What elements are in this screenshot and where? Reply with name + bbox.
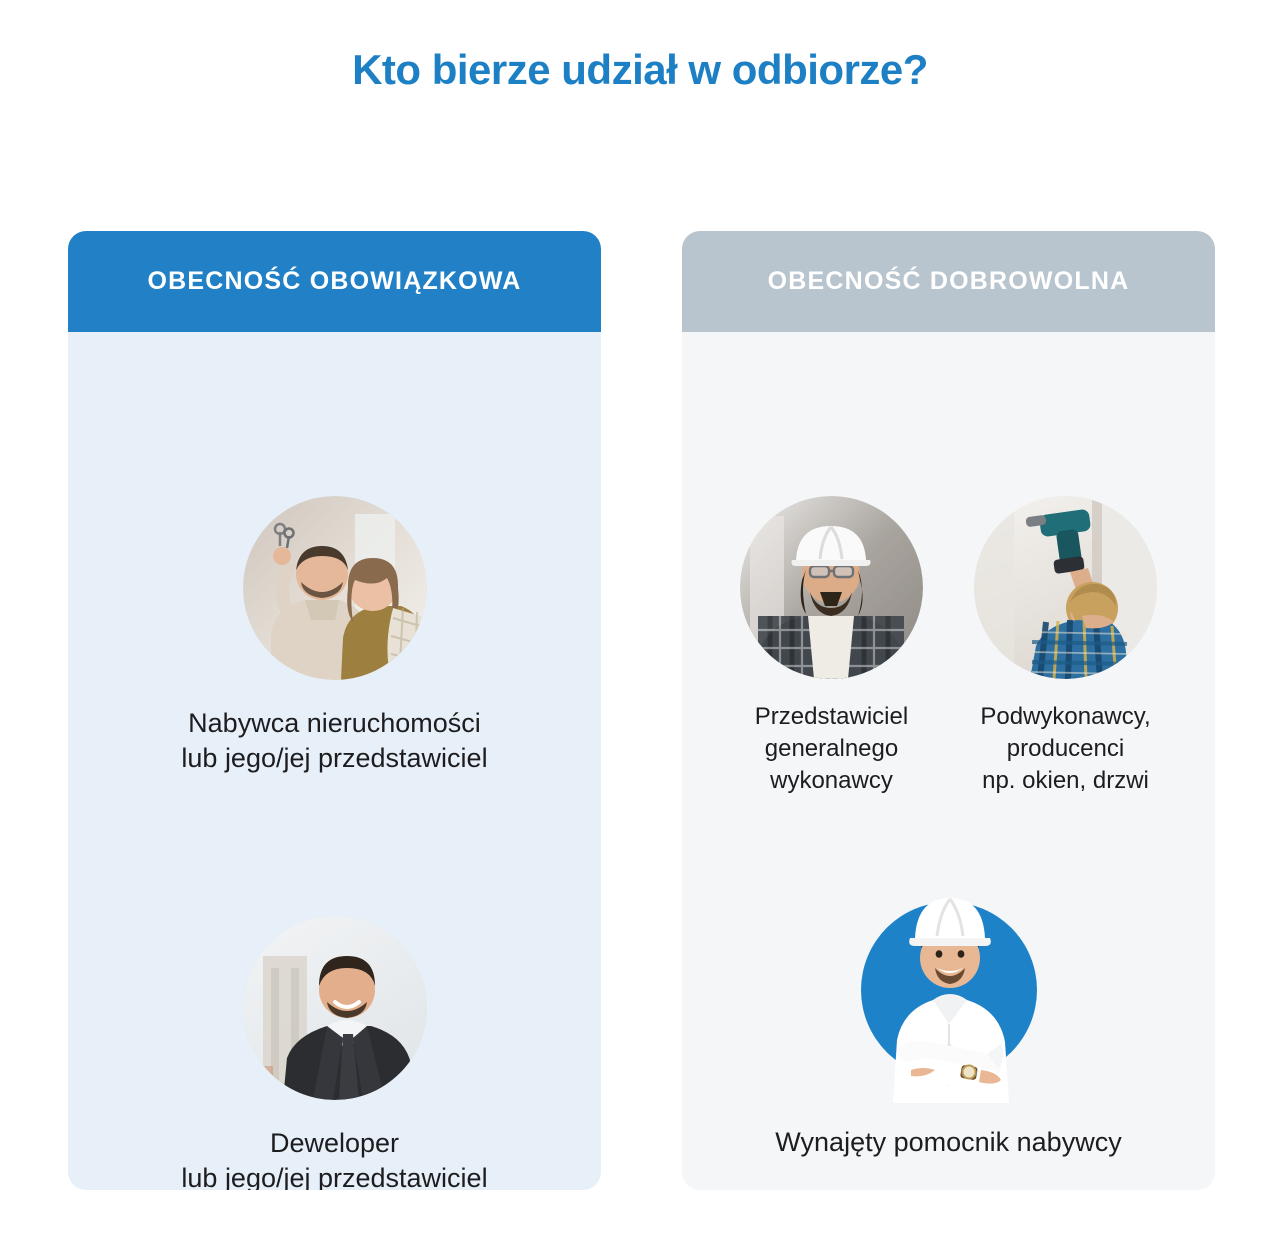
person-developer: Deweloper lub jego/jej przedstawiciel (68, 916, 601, 1190)
person-subcontractors-caption: Podwykonawcy, producenci np. okien, drzw… (980, 701, 1150, 797)
person-general-contractor-rep-caption: Przedstawiciel generalnego wykonawcy (755, 701, 908, 797)
card-voluntary-header: OBECNOŚĆ DOBROWOLNA (682, 231, 1215, 332)
worker-hardhat-glasses-photo (740, 496, 923, 679)
card-mandatory-presence: OBECNOŚĆ OBOWIĄZKOWA (68, 231, 601, 1190)
page-title: Kto bierze udział w odbiorze? (0, 46, 1280, 94)
person-hired-helper-caption: Wynajęty pomocnik nabywcy (775, 1125, 1121, 1160)
man-in-suit-photo (243, 916, 427, 1100)
worker-with-drill-photo (974, 496, 1157, 679)
card-mandatory-header: OBECNOŚĆ OBOWIĄZKOWA (68, 231, 601, 332)
card-voluntary-presence: OBECNOŚĆ DOBROWOLNA (682, 231, 1215, 1190)
engineer-arms-crossed-photo (849, 874, 1049, 1103)
infographic-page: Kto bierze udział w odbiorze? OBECNOŚĆ O… (0, 0, 1280, 1240)
person-general-contractor-rep: Przedstawiciel generalnego wykonawcy (739, 496, 925, 797)
person-hired-helper: Wynajęty pomocnik nabywcy (682, 874, 1215, 1160)
person-buyer: Nabywca nieruchomości lub jego/jej przed… (68, 496, 601, 776)
person-subcontractors: Podwykonawcy, producenci np. okien, drzw… (973, 496, 1159, 797)
person-buyer-caption: Nabywca nieruchomości lub jego/jej przed… (181, 706, 487, 776)
voluntary-top-row: Przedstawiciel generalnego wykonawcy (682, 496, 1215, 797)
couple-with-keys-photo (243, 496, 427, 680)
person-developer-caption: Deweloper lub jego/jej przedstawiciel (181, 1126, 487, 1190)
